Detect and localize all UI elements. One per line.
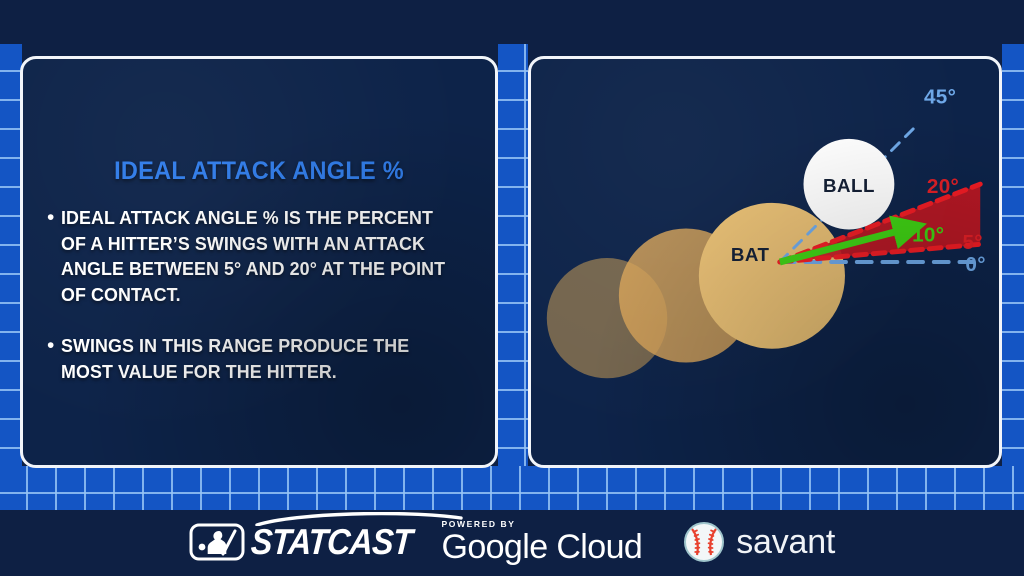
definition-panel: IDEAL ATTACK ANGLE % • IDEAL ATTACK ANGL… [20, 56, 498, 468]
angle-label-20: 20° [927, 175, 959, 198]
bat-trail-circle-3 [699, 203, 845, 349]
bullet-text: SWINGS IN THIS RANGE PRODUCE THE MOST VA… [61, 333, 460, 384]
slide-canvas: IDEAL ATTACK ANGLE % • IDEAL ATTACK ANGL… [0, 0, 1024, 576]
ball-label: BALL [823, 175, 875, 196]
bullet-dot-icon: • [47, 333, 61, 358]
angle-label-45: 45° [924, 85, 956, 108]
angle-label-10: 10° [912, 223, 944, 246]
savant-wordmark: savant [736, 523, 835, 562]
attack-angle-diagram: BALL BAT 45° 20° 10° 5° 0° [531, 59, 999, 465]
page-title: IDEAL ATTACK ANGLE % [37, 157, 481, 186]
grid-background-bottom [0, 466, 1024, 510]
statcast-wordmark: STATCAST [249, 521, 412, 563]
bullet-rest: SWINGS IN THIS RANGE PRODUCE THE MOST VA… [61, 335, 409, 382]
list-item: • IDEAL ATTACK ANGLE % IS THE PERCENT OF… [47, 205, 477, 307]
bullet-text: IDEAL ATTACK ANGLE % IS THE PERCENT OF A… [61, 205, 460, 307]
grid-background-left [0, 44, 22, 476]
angle-label-5: 5° [962, 231, 982, 254]
baseball-savant-logo: savant [682, 520, 835, 564]
list-item: • SWINGS IN THIS RANGE PRODUCE THE MOST … [47, 333, 477, 384]
statcast-logo: STATCAST [189, 521, 430, 563]
grid-background-right [1002, 44, 1024, 476]
attack-angle-diagram-panel: BALL BAT 45° 20° 10° 5° 0° [528, 56, 1002, 468]
bullet-lead: IDEAL ATTACK ANGLE [61, 207, 258, 228]
baseball-icon [682, 520, 726, 564]
google-cloud-wordmark: Google Cloud [441, 530, 642, 564]
grid-background-middle [498, 44, 528, 476]
bullet-dot-icon: • [47, 205, 61, 230]
footer-logos: STATCAST POWERED BY Google Cloud [0, 508, 1024, 576]
angle-label-0: 0° [965, 253, 985, 276]
bat-label: BAT [731, 244, 770, 265]
bullet-list: • IDEAL ATTACK ANGLE % IS THE PERCENT OF… [47, 205, 477, 410]
mlb-logo-icon [189, 522, 245, 562]
google-cloud-logo: POWERED BY Google Cloud [441, 520, 642, 564]
